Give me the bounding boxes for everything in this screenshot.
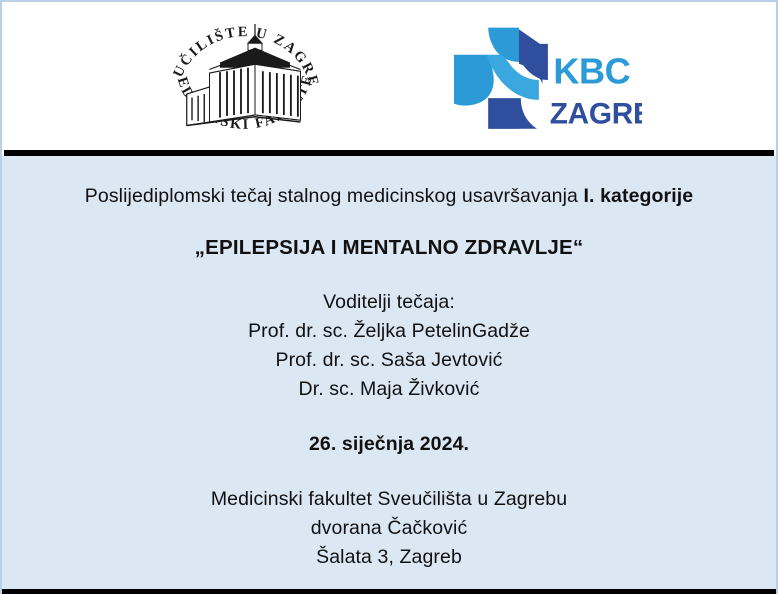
- course-category-normal: Poslijediplomski tečaj stalnog medicinsk…: [85, 185, 584, 207]
- venue-address: Šalata 3, Zagreb: [2, 543, 776, 572]
- course-category-line: Poslijediplomski tečaj stalnog medicinsk…: [2, 182, 776, 211]
- kbc-cross-mark: [454, 28, 548, 129]
- venue-hall: dvorana Čačković: [2, 514, 776, 543]
- course-leader: Prof. dr. sc. Saša Jevtović: [2, 346, 776, 375]
- spacer: [2, 404, 776, 430]
- course-title: „EPILEPSIJA I MENTALNO ZDRAVLJE“: [2, 233, 776, 262]
- zagreb-wordmark: ZAGREB: [550, 97, 642, 130]
- course-leaders-heading: Voditelji tečaja:: [2, 288, 776, 317]
- venue-institution: Medicinski fakultet Sveučilišta u Zagreb…: [2, 485, 776, 514]
- logo-header: SVEUČILIŠTE U ZAGREBU MEDICINSKI FAKULTE…: [2, 2, 776, 150]
- spacer: [2, 459, 776, 485]
- university-of-zagreb-school-of-medicine-logo: SVEUČILIŠTE U ZAGREBU MEDICINSKI FAKULTE…: [157, 10, 332, 143]
- kbc-zagreb-logo: KBC ZAGREB: [452, 24, 642, 136]
- spacer: [2, 262, 776, 288]
- course-leader: Dr. sc. Maja Živković: [2, 375, 776, 404]
- course-date: 26. siječnja 2024.: [2, 430, 776, 459]
- kbc-wordmark: KBC: [553, 51, 630, 92]
- course-category-bold: I. kategorije: [584, 185, 694, 207]
- poster-body: Poslijediplomski tečaj stalnog medicinsk…: [2, 156, 776, 594]
- course-leader: Prof. dr. sc. Željka PetelinGadže: [2, 317, 776, 346]
- spacer: [2, 211, 776, 233]
- course-announcement-poster: SVEUČILIŠTE U ZAGREBU MEDICINSKI FAKULTE…: [0, 0, 778, 594]
